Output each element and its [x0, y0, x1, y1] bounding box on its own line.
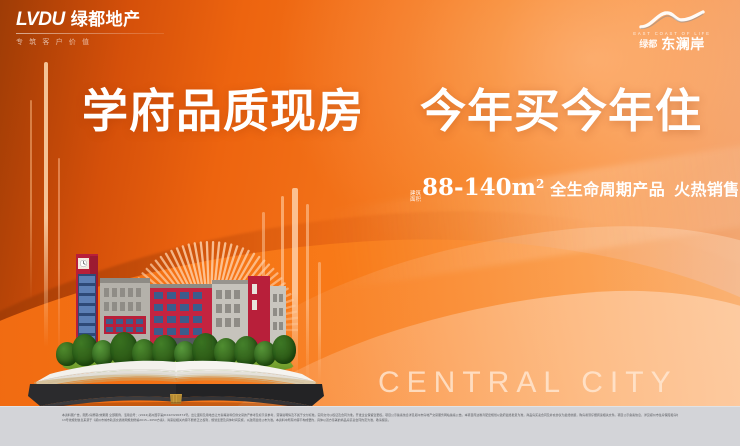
- book-campus-illustration: [26, 222, 326, 410]
- watermark-central-city: CENTRAL CITY: [378, 368, 678, 398]
- headline: 学府品质现房 今年买今年住: [82, 88, 702, 134]
- wave-swoosh-icon: [639, 8, 705, 30]
- subheadline: 建筑 面积 88-140 m 2 全生命周期产品 火热销售: [410, 176, 740, 206]
- area-prefix-line2: 面积: [410, 198, 421, 204]
- project-developer-name: 绿都: [639, 41, 657, 50]
- logo-company-name: 绿都地产: [71, 12, 141, 29]
- disclaimer-line-2: 13号线规划信息来源于《郑州市城市轨道交通线网规划修编2015~2050方案》，…: [62, 418, 678, 423]
- advertisement-banner: CENTRAL CITY: [0, 0, 740, 446]
- project-tagline-en: EAST COAST OF LIFE: [633, 31, 711, 36]
- area-unit-superscript: 2: [536, 177, 544, 191]
- logo-divider: [16, 33, 164, 34]
- open-book-illustration: [26, 342, 326, 408]
- logo-tagline: 专筑客户价值: [16, 37, 166, 47]
- brand-logo-left[interactable]: LVDU 绿都地产 专筑客户价值: [16, 10, 166, 47]
- area-prefix-label: 建筑 面积: [410, 192, 421, 206]
- footer-disclaimer: 本资料图广告，图形/房屋取/效果图 全部图例，活用途号：(2024)郑州国字第J…: [0, 406, 740, 446]
- product-description: 全生命周期产品: [550, 182, 665, 198]
- sales-status: 火热销售: [674, 182, 740, 198]
- project-logo-right[interactable]: EAST COAST OF LIFE 绿都 东澜岸: [620, 8, 724, 52]
- logo-wordmark: LVDU: [16, 10, 65, 29]
- area-unit: m: [512, 176, 536, 199]
- headline-part1: 学府品质现房: [82, 84, 364, 138]
- project-name: 东澜岸: [661, 38, 705, 52]
- area-range: 88-140: [422, 176, 512, 199]
- footer-top-divider: [0, 406, 740, 407]
- headline-part2: 今年买今年住: [420, 84, 702, 138]
